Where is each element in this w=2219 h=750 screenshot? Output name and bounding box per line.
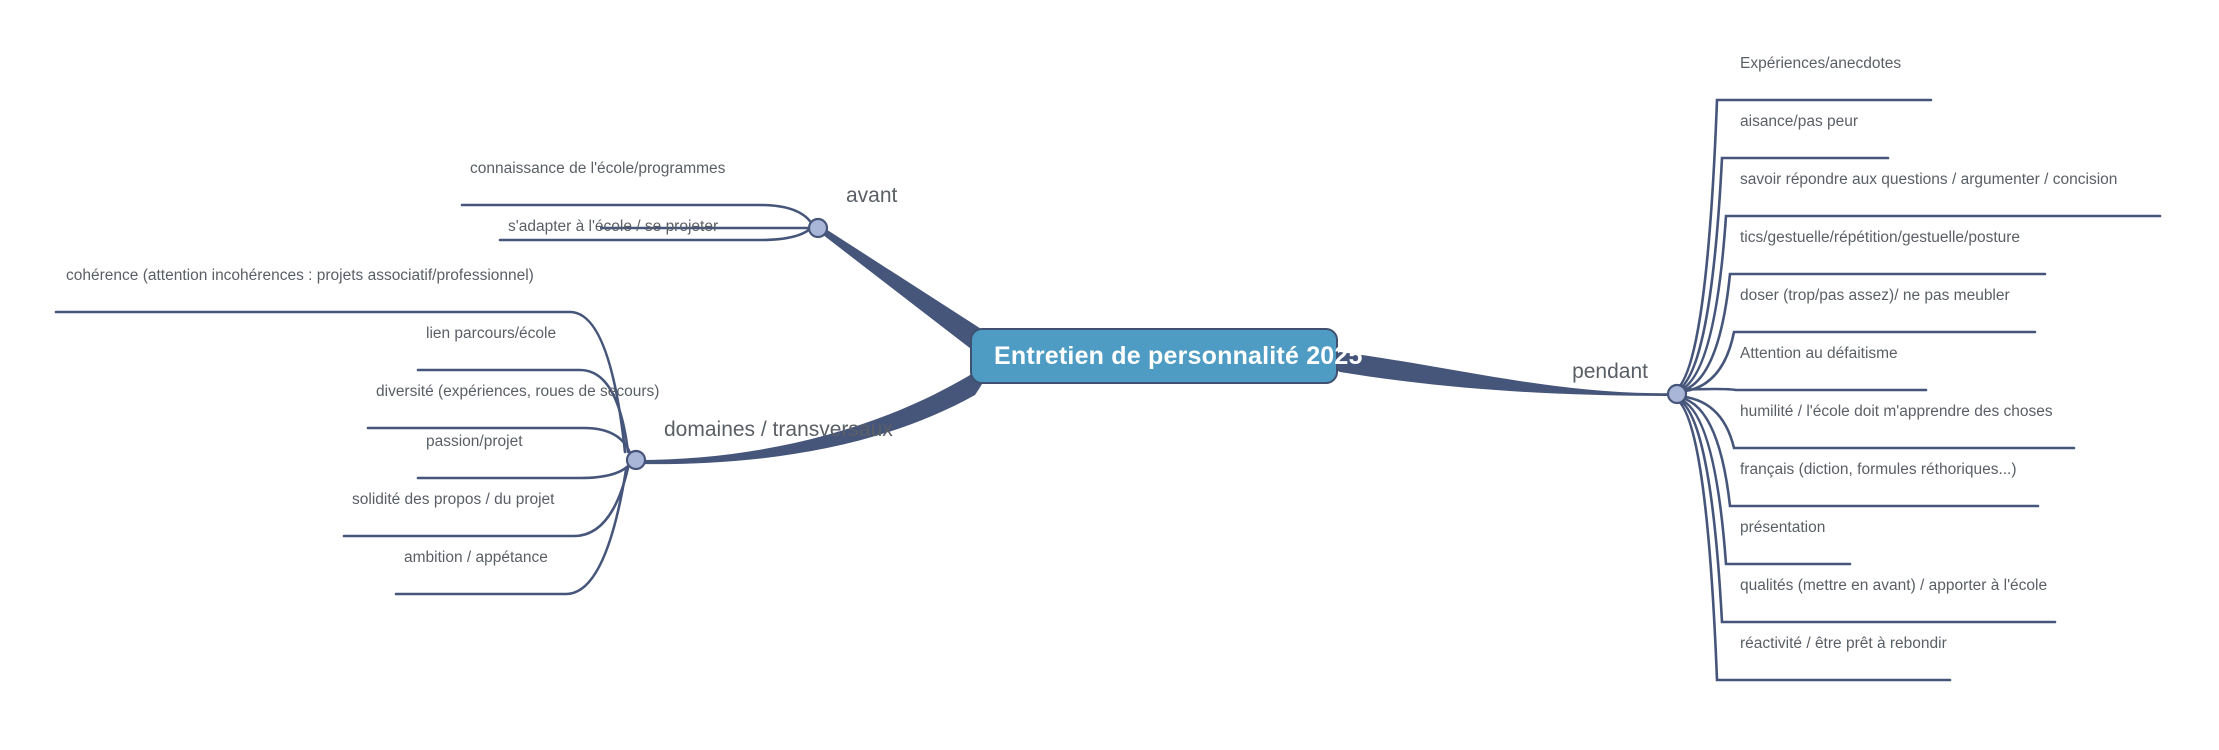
branch-label-domaines[interactable]: domaines / transversaux [664, 418, 893, 442]
node-domaines-child-0[interactable]: cohérence (attention incohérences : proj… [66, 267, 534, 285]
node-domaines-child-2[interactable]: diversité (expériences, roues de secours… [376, 383, 659, 401]
node-pendant-child-9[interactable]: qualités (mettre en avant) / apporter à … [1740, 577, 2047, 595]
node-pendant-child-8[interactable]: présentation [1740, 519, 1825, 537]
node-pendant-child-10[interactable]: réactivité / être prêt à rebondir [1740, 635, 1947, 653]
node-pendant-child-4[interactable]: doser (trop/pas assez)/ ne pas meubler [1740, 287, 2010, 305]
branch-label-avant[interactable]: avant [846, 184, 897, 208]
main-branch-avant [818, 224, 988, 352]
node-domaines-child-4[interactable]: solidité des propos / du projet [352, 491, 554, 509]
center-node-title: Entretien de personnalité 2025 [994, 342, 1363, 371]
mindmap-canvas: Entretien de personnalité 2025 avant dom… [0, 0, 2219, 750]
node-pendant-child-7[interactable]: français (diction, formules réthoriques.… [1740, 461, 2017, 479]
center-node[interactable]: Entretien de personnalité 2025 [970, 328, 1338, 384]
node-domaines-child-5[interactable]: ambition / appétance [404, 549, 548, 567]
junction-dot-avant [809, 219, 827, 237]
node-pendant-child-2[interactable]: savoir répondre aux questions / argument… [1740, 171, 2117, 189]
node-pendant-child-5[interactable]: Attention au défaitisme [1740, 345, 1898, 363]
main-branch-domaines [636, 368, 988, 464]
node-domaines-child-3[interactable]: passion/projet [426, 433, 523, 451]
branch-label-pendant[interactable]: pendant [1572, 360, 1648, 384]
node-avant-child-0[interactable]: connaissance de l'école/programmes [470, 160, 725, 178]
junction-dot-domaines [627, 451, 645, 469]
node-domaines-child-1[interactable]: lien parcours/école [426, 325, 556, 343]
node-pendant-child-3[interactable]: tics/gestuelle/répétition/gestuelle/post… [1740, 229, 2020, 247]
node-avant-child-1[interactable]: s'adapter à l'école / se projeter [508, 218, 718, 236]
node-pendant-child-1[interactable]: aisance/pas peur [1740, 113, 1858, 131]
node-pendant-child-6[interactable]: humilité / l'école doit m'apprendre des … [1740, 403, 2053, 421]
node-pendant-child-0[interactable]: Expériences/anecdotes [1740, 55, 1901, 73]
junction-dot-pendant [1668, 385, 1686, 403]
